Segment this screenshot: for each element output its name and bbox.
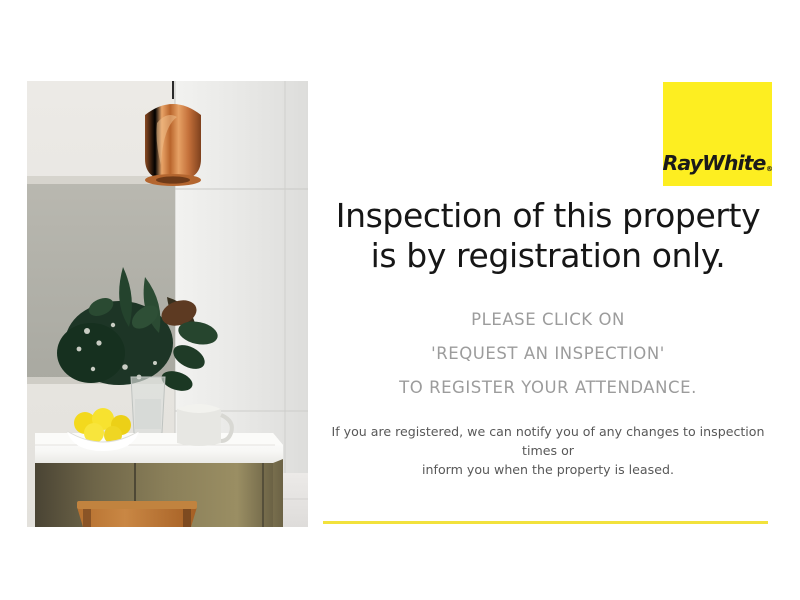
page-title: Inspection of this property is by regist… [323, 196, 773, 277]
raywhite-wordmark: RayWhite® [662, 153, 772, 174]
property-photo [27, 81, 308, 527]
instruction-line-3: TO REGISTER YOUR ATTENDANCE. [323, 371, 773, 405]
fine-print-block: If you are registered, we can notify you… [323, 422, 773, 479]
logo-text-white: White [702, 151, 765, 175]
registered-trademark-icon: ® [766, 165, 773, 173]
instruction-block: PLEASE CLICK ON 'REQUEST AN INSPECTION' … [323, 303, 773, 405]
fine-print-line-1: If you are registered, we can notify you… [323, 422, 773, 460]
accent-divider [323, 521, 768, 524]
fine-print-line-2: inform you when the property is leased. [323, 460, 773, 479]
slide-canvas: RayWhite® Inspection of this property is… [0, 0, 800, 600]
instruction-line-1: PLEASE CLICK ON [323, 303, 773, 337]
kitchen-photo-illustration [27, 81, 308, 527]
logo-text-ray: Ray [662, 151, 702, 175]
raywhite-logo: RayWhite® [663, 82, 772, 186]
instruction-line-2: 'REQUEST AN INSPECTION' [323, 337, 773, 371]
message-column: Inspection of this property is by regist… [323, 196, 773, 479]
headline-line-2: is by registration only. [323, 236, 773, 276]
headline-line-1: Inspection of this property [336, 196, 760, 235]
